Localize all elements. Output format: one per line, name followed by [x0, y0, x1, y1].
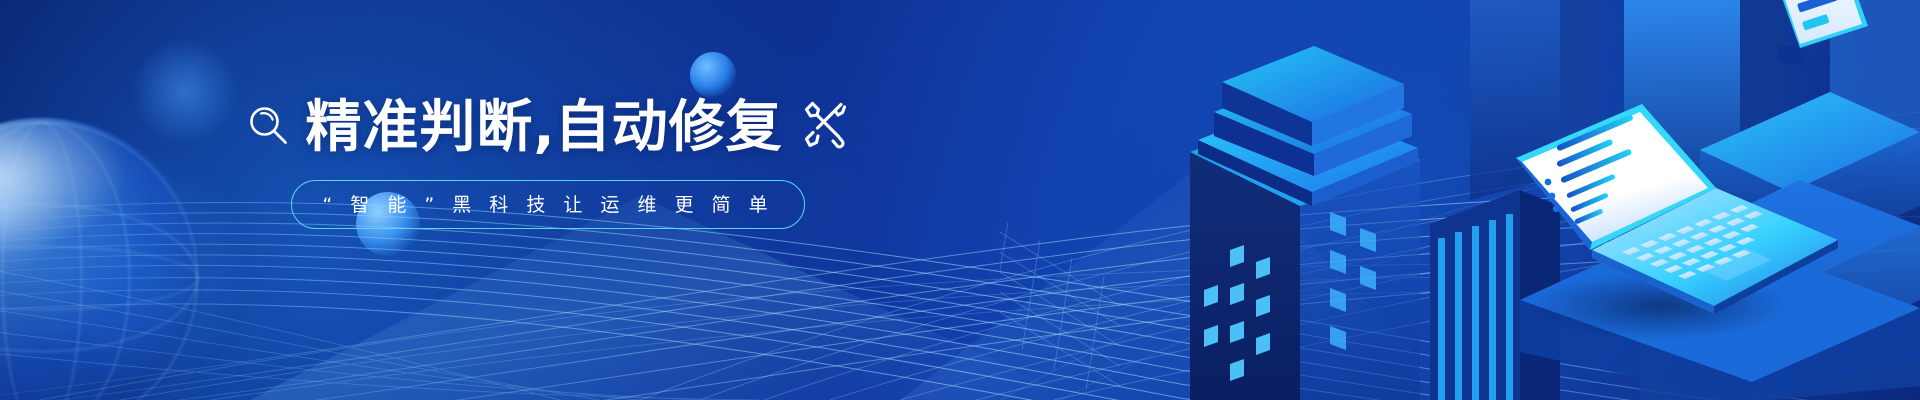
floating-document-card	[1772, 0, 1868, 66]
office-building-windows	[1190, 110, 1420, 400]
hero-banner: 精准判断,自动修复 “ 智 能 ” 黑 科 技 让 运 维 更 简 单	[0, 0, 1920, 400]
search-magnifier-icon	[245, 102, 291, 148]
glow-orb-upper-mid	[690, 52, 736, 98]
crossed-wrench-screwdriver-icon	[797, 96, 851, 150]
globe-sphere-decoration	[0, 118, 202, 400]
page-title: 精准判断,自动修复	[305, 99, 782, 157]
stacked-cube-blocks	[1190, 46, 1424, 206]
document-card-lines	[1792, 0, 1838, 31]
headline-row: 精准判断,自动修复	[245, 96, 850, 160]
globe-ring-meridian-2	[2, 122, 82, 400]
headline-part-1: 精准判断	[305, 95, 533, 160]
headline-comma: ,	[533, 95, 554, 160]
headline-part-2: 自动修复	[555, 95, 783, 160]
striped-fins	[1430, 190, 1560, 400]
laptop-platform	[1520, 222, 1920, 400]
globe-ring-outer	[0, 122, 198, 400]
isometric-illustration	[1000, 0, 1920, 400]
ground-grid	[1000, 222, 1120, 390]
globe-highlight	[0, 118, 202, 400]
globe-ring-latitude-1	[0, 204, 198, 352]
globe-core	[0, 118, 202, 400]
banner-copy: 精准判断,自动修复 “ 智 能 ” 黑 科 技 让 运 维 更 简 单	[228, 96, 868, 229]
subtitle-text: “ 智 能 ” 黑 科 技 让 运 维 更 简 单	[322, 190, 773, 217]
subtitle-pill: “ 智 能 ” 黑 科 技 让 运 维 更 简 单	[291, 180, 804, 229]
background-pillars	[1470, 0, 1920, 238]
right-slab-stack	[1640, 92, 1920, 400]
glow-orb-top-left	[130, 36, 240, 146]
isometric-laptop	[1516, 104, 1838, 340]
building-window-group	[1204, 245, 1270, 381]
globe-ring-latitude-2	[0, 246, 198, 310]
laptop-keyboard-keys	[1622, 205, 1763, 279]
globe-ring-meridian-1	[0, 122, 130, 400]
glow-orb-left-soft	[10, 148, 250, 388]
laptop-screen-code-lines	[1545, 114, 1634, 225]
